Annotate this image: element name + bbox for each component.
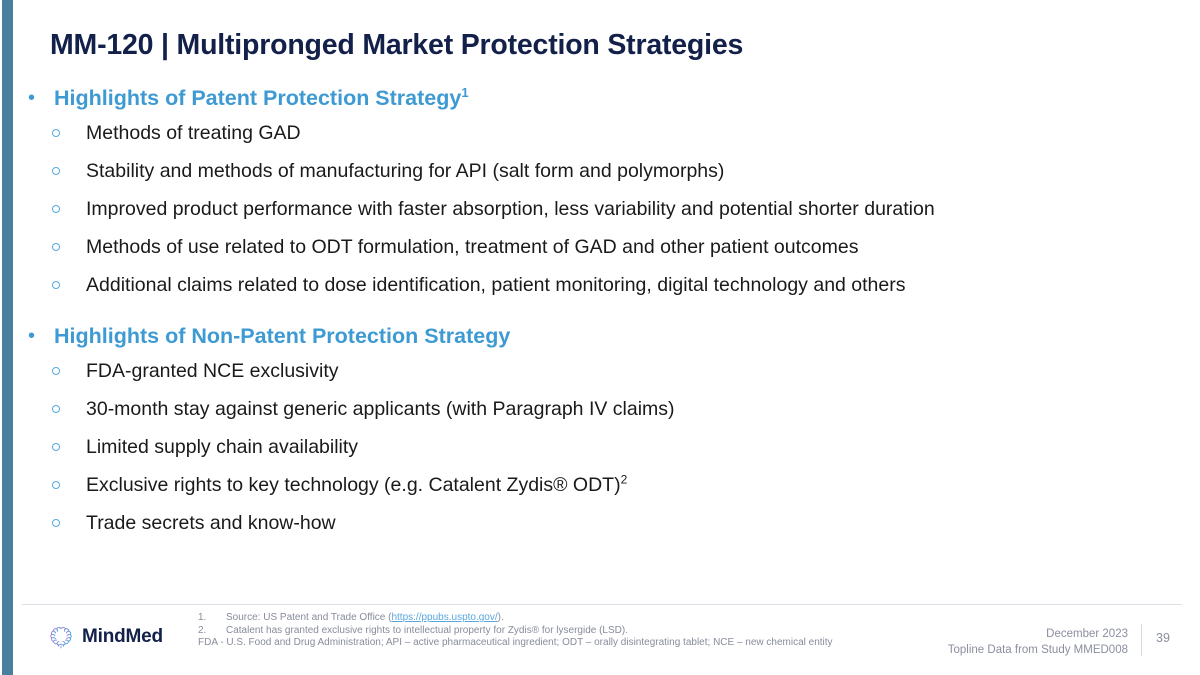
sub-bullet-list: FDA-granted NCE exclusivity 30-month sta… [0,358,1200,548]
list-item: 30-month stay against generic applicants… [0,396,1200,434]
footnote-text: Catalent has granted exclusive rights to… [226,625,628,638]
hollow-circle-icon [52,510,86,537]
list-item: Additional claims related to dose identi… [0,272,1200,310]
footnote-ref-superscript: 1 [461,85,468,100]
uspto-link[interactable]: https://ppubs.uspto.gov/ [391,612,497,623]
hollow-circle-icon [52,396,86,423]
hollow-circle-icon [52,272,86,299]
footnote-number: 2. [198,625,226,638]
mindmed-logo: MindMed [46,622,163,652]
footnote-number: 1. [198,612,226,625]
list-item: Methods of use related to ODT formulatio… [0,234,1200,272]
list-item-label: 30-month stay against generic applicants… [86,396,675,423]
list-item-label: Exclusive rights to key technology (e.g.… [86,472,627,499]
slide-canvas: MM-120 | Multipronged Market Protection … [0,0,1200,675]
footnotes-block: 1. Source: US Patent and Trade Office (h… [198,612,898,650]
sub-bullet-list: Methods of treating GAD Stability and me… [0,120,1200,310]
section-heading-label: Highlights of Patent Protection Strategy… [54,84,469,112]
presentation-date: December 2023 [948,626,1128,642]
list-item: FDA-granted NCE exclusivity [0,358,1200,396]
study-subtitle: Topline Data from Study MMED008 [948,642,1128,658]
section-heading-row: • Highlights of Non-Patent Protection St… [0,322,1200,358]
footer-divider [22,604,1182,605]
page-number: 39 [1150,631,1176,645]
section-heading-label: Highlights of Non-Patent Protection Stra… [54,322,510,350]
hollow-circle-icon [52,472,86,499]
list-item-label: Trade secrets and know-how [86,510,336,537]
list-item-label: Methods of use related to ODT formulatio… [86,234,858,261]
list-item: Limited supply chain availability [0,434,1200,472]
section-heading-row: • Highlights of Patent Protection Strate… [0,84,1200,120]
footer-meta: December 2023 Topline Data from Study MM… [948,626,1128,658]
list-item-label: FDA-granted NCE exclusivity [86,358,339,385]
bullet-dot-icon: • [28,84,54,112]
slide-body: • Highlights of Patent Protection Strate… [0,84,1200,548]
hollow-circle-icon [52,358,86,385]
list-item: Trade secrets and know-how [0,510,1200,548]
section-spacer [0,310,1200,322]
footnote-2: 2. Catalent has granted exclusive rights… [198,625,898,638]
hollow-circle-icon [52,120,86,147]
logo-wordmark: MindMed [82,626,163,648]
list-item-label: Improved product performance with faster… [86,196,935,223]
list-item: Methods of treating GAD [0,120,1200,158]
hollow-circle-icon [52,234,86,261]
hollow-circle-icon [52,434,86,461]
footnote-text: Source: US Patent and Trade Office (http… [226,612,504,625]
brain-icon [46,622,76,652]
list-item-label: Stability and methods of manufacturing f… [86,158,724,185]
list-item: Improved product performance with faster… [0,196,1200,234]
abbreviations-text: FDA - U.S. Food and Drug Administration;… [198,637,898,650]
list-item-label: Limited supply chain availability [86,434,358,461]
bullet-dot-icon: • [28,322,54,350]
section-non-patent-protection: • Highlights of Non-Patent Protection St… [0,322,1200,548]
list-item: Stability and methods of manufacturing f… [0,158,1200,196]
page-title: MM-120 | Multipronged Market Protection … [50,29,743,62]
list-item: Exclusive rights to key technology (e.g.… [0,472,1200,510]
list-item-label: Additional claims related to dose identi… [86,272,906,299]
section-patent-protection: • Highlights of Patent Protection Strate… [0,84,1200,310]
footnote-ref-superscript: 2 [621,473,628,487]
footnote-1: 1. Source: US Patent and Trade Office (h… [198,612,898,625]
hollow-circle-icon [52,196,86,223]
list-item-label: Methods of treating GAD [86,120,301,147]
hollow-circle-icon [52,158,86,185]
page-number-divider [1141,624,1142,656]
